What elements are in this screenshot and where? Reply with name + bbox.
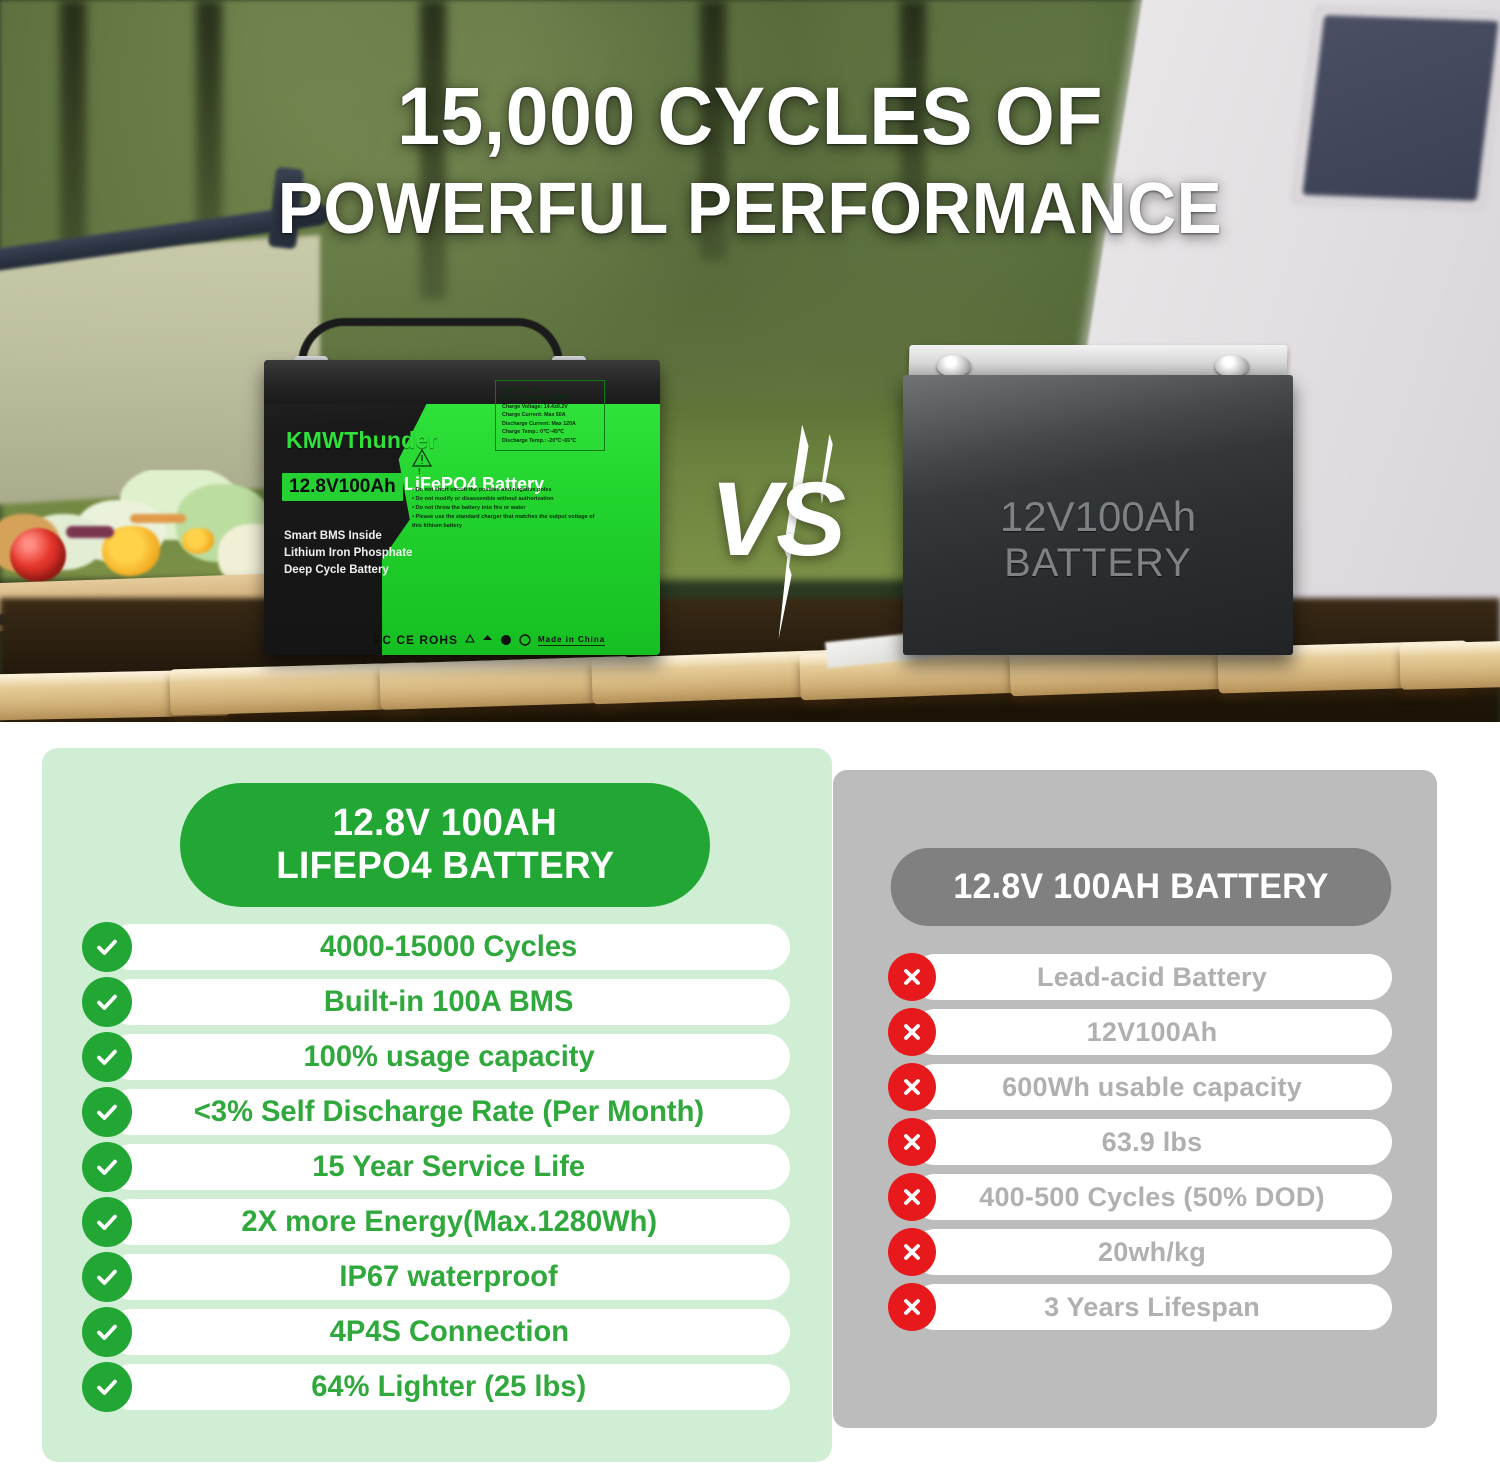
recycle-icon: [465, 634, 475, 646]
lead-acid-panel-title: 12.8V 100AH BATTERY: [891, 848, 1392, 926]
lead-acid-feature-pill: Lead-acid Battery: [912, 954, 1392, 1000]
check-circle-icon: [82, 922, 132, 972]
lead-acid-battery-product: 12V100Ah BATTERY: [895, 345, 1295, 655]
arrow-up-icon: [482, 634, 493, 646]
lifepo4-title-line-2: LIFEPO4 BATTERY: [276, 845, 614, 888]
feature-label: 400-500 Cycles (50% DOD): [979, 1182, 1324, 1213]
lifepo4-feature-pill: 2X more Energy(Max.1280Wh): [108, 1199, 790, 1245]
check-circle-icon: [82, 1087, 132, 1137]
lifepo4-title-line-1: 12.8V 100AH: [333, 802, 558, 845]
check-circle-icon: [82, 977, 132, 1027]
x-circle-icon: [888, 1283, 936, 1331]
hero-headline: 15,000 CYCLES OF POWERFUL PERFORMANCE: [0, 74, 1500, 247]
no-fire-icon: [500, 634, 512, 646]
check-circle-icon: [82, 1142, 132, 1192]
lifepo4-feature-pill: IP67 waterproof: [108, 1254, 790, 1300]
hero-photo: KMWThunder 12.8V100Ah LiFePO4 Battery Sm…: [0, 0, 1500, 722]
lead-acid-feature-pill: 12V100Ah: [912, 1009, 1392, 1055]
battery-voltage-label: 12V100Ah: [903, 493, 1293, 541]
lead-acid-feature-pill: 400-500 Cycles (50% DOD): [912, 1174, 1392, 1220]
feature-label: 4000-15000 Cycles: [320, 930, 577, 964]
battery-terminal: [937, 355, 971, 377]
lead-acid-feature-pill: 600Wh usable capacity: [912, 1064, 1392, 1110]
lifepo4-battery-product: KMWThunder 12.8V100Ah LiFePO4 Battery Sm…: [258, 330, 663, 655]
case-gloss: [903, 375, 1293, 495]
x-circle-icon: [888, 953, 936, 1001]
lead-acid-feature-pill: 20wh/kg: [912, 1229, 1392, 1275]
x-circle-icon: [888, 1063, 936, 1111]
battery-spec-box: Model: 12V100 Nominal Capacity: 1280Wh C…: [495, 380, 605, 451]
feature-label: 600Wh usable capacity: [1002, 1072, 1302, 1103]
check-circle-icon: [82, 1307, 132, 1357]
lifepo4-feature-pill: 4000-15000 Cycles: [108, 924, 790, 970]
cert-labels: FC CE ROHS: [374, 633, 458, 647]
battery-type-label: BATTERY: [903, 541, 1293, 586]
battery-case: KMWThunder 12.8V100Ah LiFePO4 Battery Sm…: [264, 360, 660, 655]
comparison-section: 12.8V 100AH LIFEPO4 BATTERY 12.8V 100AH …: [0, 722, 1500, 1468]
feature-label: 3 Years Lifespan: [1044, 1292, 1260, 1323]
x-circle-icon: [888, 1173, 936, 1221]
lead-acid-feature-pill: 3 Years Lifespan: [912, 1284, 1392, 1330]
feature-label: Built-in 100A BMS: [324, 985, 574, 1019]
feature-label: 4P4S Connection: [329, 1315, 568, 1349]
battery-terminal: [1215, 355, 1249, 377]
feature-label: 15 Year Service Life: [313, 1150, 586, 1184]
versus-badge: VS: [700, 430, 880, 630]
feature-label: 63.9 lbs: [1102, 1127, 1203, 1158]
feature-label: 12V100Ah: [1087, 1017, 1218, 1048]
battery-handle: [298, 318, 563, 364]
check-circle-icon: [82, 1032, 132, 1082]
headline-line-1: 15,000 CYCLES OF: [45, 74, 1455, 161]
x-circle-icon: [888, 1228, 936, 1276]
lifepo4-feature-pill: 15 Year Service Life: [108, 1144, 790, 1190]
lifepo4-feature-pill: 100% usage capacity: [108, 1034, 790, 1080]
check-circle-icon: [82, 1252, 132, 1302]
made-in-label: Made in China: [538, 635, 605, 646]
feature-label: 2X more Energy(Max.1280Wh): [241, 1205, 657, 1239]
feature-label: 20wh/kg: [1098, 1237, 1206, 1268]
check-circle-icon: [82, 1362, 132, 1412]
lifepo4-panel-title: 12.8V 100AH LIFEPO4 BATTERY: [180, 783, 710, 907]
headline-line-2: POWERFUL PERFORMANCE: [45, 171, 1455, 247]
feature-label: IP67 waterproof: [340, 1260, 558, 1294]
battery-capacity-badge: 12.8V100Ah: [282, 473, 403, 501]
feature-label: Lead-acid Battery: [1037, 962, 1267, 993]
feature-label: <3% Self Discharge Rate (Per Month): [194, 1095, 704, 1129]
lifepo4-feature-pill: <3% Self Discharge Rate (Per Month): [108, 1089, 790, 1135]
lifepo4-feature-pill: 64% Lighter (25 lbs): [108, 1364, 790, 1410]
warning-triangle-icon: [412, 464, 430, 479]
recycling-loop-icon: [519, 634, 531, 646]
feature-label: 100% usage capacity: [303, 1040, 594, 1074]
lead-acid-feature-pill: 63.9 lbs: [912, 1119, 1392, 1165]
battery-certification-marks: FC CE ROHS Made in China: [374, 633, 605, 647]
feature-label: 64% Lighter (25 lbs): [312, 1370, 587, 1404]
versus-label: VS: [710, 460, 842, 580]
battery-feature-text: Smart BMS Inside Lithium Iron Phosphate …: [284, 528, 412, 578]
table-slat: [1399, 640, 1500, 689]
battery-warning-text: • Do not short circuit the positive and …: [412, 486, 602, 531]
battery-case: 12V100Ah BATTERY: [903, 375, 1293, 655]
lifepo4-feature-pill: 4P4S Connection: [108, 1309, 790, 1355]
x-circle-icon: [888, 1008, 936, 1056]
check-circle-icon: [82, 1197, 132, 1247]
x-circle-icon: [888, 1118, 936, 1166]
lifepo4-feature-pill: Built-in 100A BMS: [108, 979, 790, 1025]
